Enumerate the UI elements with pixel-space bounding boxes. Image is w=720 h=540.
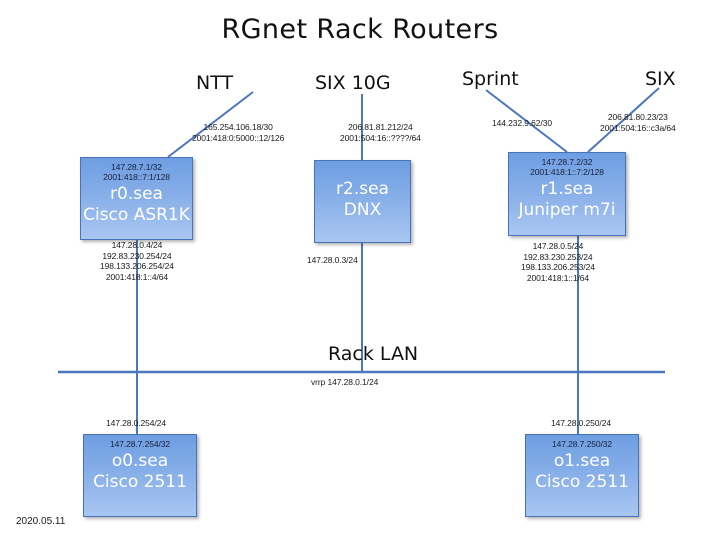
diagram-canvas: RGnet Rack Routers NTTSIX 10GSprintSIX 1… bbox=[0, 0, 720, 540]
address-line: 192.83.230.253/24 bbox=[521, 252, 595, 263]
o0-lan-address: 147.28.0.254/24 bbox=[106, 418, 166, 429]
router-hostname: o1.sea bbox=[526, 451, 638, 472]
router-identity: o1.seaCisco 2511 bbox=[526, 449, 638, 493]
router-identity: o0.seaCisco 2511 bbox=[84, 449, 196, 493]
router-identity: r2.seaDNX bbox=[315, 179, 410, 221]
page-title: RGnet Rack Routers bbox=[0, 14, 720, 45]
console-o1-sea[interactable]: 147.28.7.250/32o1.seaCisco 2511 bbox=[525, 434, 639, 517]
sprint-addresses: 144.232.9.62/30 bbox=[492, 118, 552, 129]
address-line: 147.28.0.4/24 bbox=[100, 240, 174, 251]
router-model: Cisco ASR1K bbox=[81, 205, 192, 226]
router-r2-sea[interactable]: r2.seaDNX bbox=[314, 160, 411, 243]
console-o0-sea[interactable]: 147.28.7.254/32o0.seaCisco 2511 bbox=[83, 434, 197, 517]
address-line: 192.83.230.254/24 bbox=[100, 251, 174, 262]
router-ip-line: 147.28.7.2/32 bbox=[509, 157, 625, 167]
date-stamp: 2020.05.11 bbox=[16, 516, 65, 527]
address-line: 2001:504:16::c3a/64 bbox=[600, 123, 676, 134]
r1-lan-addresses: 147.28.0.5/24192.83.230.253/24198.133.20… bbox=[521, 241, 595, 283]
router-identity: r1.seaJuniper m7i bbox=[509, 177, 625, 221]
address-line: 206.81.81.212/24 bbox=[340, 122, 421, 133]
address-line: 144.232.9.62/30 bbox=[492, 118, 552, 129]
six-uplink: SIX bbox=[645, 68, 676, 90]
router-model: DNX bbox=[315, 200, 410, 221]
router-ip-block: 147.28.7.254/32 bbox=[84, 435, 196, 449]
router-hostname: r1.sea bbox=[509, 179, 625, 200]
router-ip-line: 2001:418::7:1/128 bbox=[81, 172, 192, 182]
address-line: 147.28.0.254/24 bbox=[106, 418, 166, 429]
router-ip-line: 147.28.7.1/32 bbox=[81, 162, 192, 172]
address-line: 165.254.106.18/30 bbox=[192, 122, 284, 133]
router-identity: r0.seaCisco ASR1K bbox=[81, 182, 192, 226]
router-ip-line: 2001:418:1::7:2/128 bbox=[509, 167, 625, 177]
router-hostname: o0.sea bbox=[84, 451, 196, 472]
address-line: 198.133.206.254/24 bbox=[100, 261, 174, 272]
o1-lan-address: 147.28.0.250/24 bbox=[551, 418, 611, 429]
six-10g-uplink: SIX 10G bbox=[315, 72, 391, 94]
rack-lan-label: Rack LAN bbox=[328, 343, 418, 365]
six-10g-addresses: 206.81.81.212/242001:504:16::????/64 bbox=[340, 122, 421, 143]
ntt-addresses: 165.254.106.18/302001:418:0:5000::12/126 bbox=[192, 122, 284, 143]
address-line: 2001:504:16::????/64 bbox=[340, 133, 421, 144]
router-ip-line: 147.28.7.250/32 bbox=[526, 439, 638, 449]
router-hostname: r2.sea bbox=[315, 179, 410, 200]
spacer bbox=[315, 161, 410, 179]
address-line: 2001:418:1::4/64 bbox=[100, 272, 174, 283]
router-r1-sea[interactable]: 147.28.7.2/322001:418:1::7:2/128r1.seaJu… bbox=[508, 152, 626, 236]
address-line: 147.28.0.3/24 bbox=[307, 255, 358, 266]
six-addresses: 206.81.80.23/232001:504:16::c3a/64 bbox=[600, 112, 676, 133]
router-ip-block: 147.28.7.250/32 bbox=[526, 435, 638, 449]
sprint-uplink: Sprint bbox=[462, 68, 519, 90]
r0-lan-addresses: 147.28.0.4/24192.83.230.254/24198.133.20… bbox=[100, 240, 174, 282]
router-model: Cisco 2511 bbox=[84, 472, 196, 493]
address-line: 2001:418:0:5000::12/126 bbox=[192, 133, 284, 144]
address-line: 147.28.0.250/24 bbox=[551, 418, 611, 429]
vrrp-address: vrrp 147.28.0.1/24 bbox=[311, 377, 378, 388]
address-line: 147.28.0.5/24 bbox=[521, 241, 595, 252]
router-ip-line: 147.28.7.254/32 bbox=[84, 439, 196, 449]
address-line: 206.81.80.23/23 bbox=[600, 112, 676, 123]
router-ip-block: 147.28.7.1/322001:418::7:1/128 bbox=[81, 158, 192, 182]
r2-lan-addresses: 147.28.0.3/24 bbox=[307, 255, 358, 266]
router-r0-sea[interactable]: 147.28.7.1/322001:418::7:1/128r0.seaCisc… bbox=[80, 157, 193, 240]
address-line: 198.133.206.253/24 bbox=[521, 262, 595, 273]
router-model: Juniper m7i bbox=[509, 200, 625, 221]
router-model: Cisco 2511 bbox=[526, 472, 638, 493]
ntt-uplink: NTT bbox=[196, 72, 233, 94]
router-ip-block: 147.28.7.2/322001:418:1::7:2/128 bbox=[509, 153, 625, 177]
router-hostname: r0.sea bbox=[81, 184, 192, 205]
address-line: 2001:418:1::1/64 bbox=[521, 273, 595, 284]
